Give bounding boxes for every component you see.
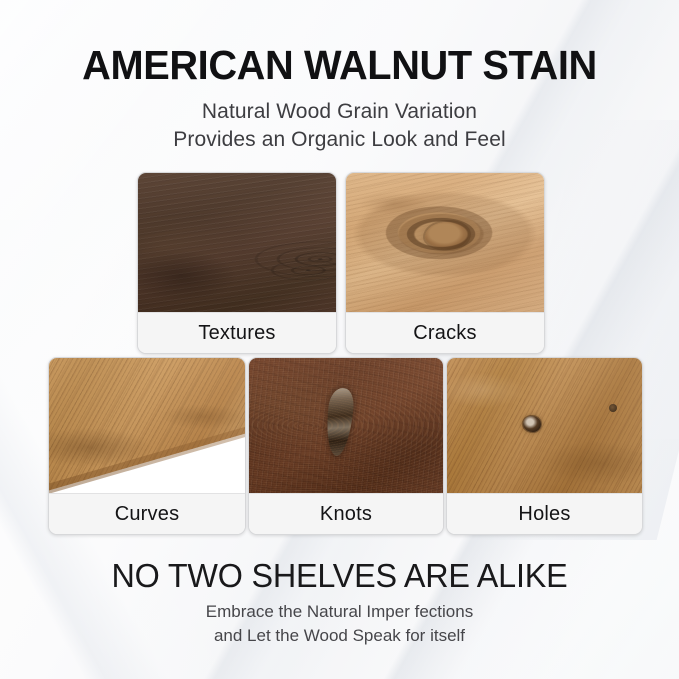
footer-title: NO TWO SHELVES ARE ALIKE [7,557,672,595]
hole-shape [523,416,541,432]
hole-shape-secondary [609,404,617,412]
infographic-canvas: AMERICAN WALNUT STAIN Natural Wood Grain… [0,0,679,679]
wood-texture-light-oak [346,173,544,312]
swatch-cracks [346,173,544,312]
wood-texture-dark-walnut [138,173,336,312]
page-subtitle: Natural Wood Grain Variation Provides an… [0,98,679,154]
page-subtitle-line-1: Natural Wood Grain Variation [0,98,679,126]
swatch-holes [447,358,642,493]
wood-texture-plank-edge [49,358,245,493]
footer-subtitle-line-1: Embrace the Natural Imper fections [0,600,679,624]
feature-card-knots[interactable]: Knots [248,357,444,535]
swatch-curves [49,358,245,493]
swatch-knots [249,358,443,493]
knot-blob-shape [323,387,355,457]
feature-card-label: Textures [138,312,336,353]
feature-card-label: Holes [447,493,642,534]
page-title: AMERICAN WALNUT STAIN [10,44,669,87]
feature-card-label: Curves [49,493,245,534]
feature-card-label: Knots [249,493,443,534]
feature-card-holes[interactable]: Holes [446,357,643,535]
wood-texture-dark-red-brown [249,358,443,493]
feature-card-curves[interactable]: Curves [48,357,246,535]
plank-face [49,358,245,493]
swatch-textures [138,173,336,312]
feature-card-textures[interactable]: Textures [137,172,337,354]
page-subtitle-line-2: Provides an Organic Look and Feel [0,126,679,154]
footer-subtitle-line-2: and Let the Wood Speak for itself [0,624,679,648]
wood-texture-medium-brown [447,358,642,493]
feature-card-cracks[interactable]: Cracks [345,172,545,354]
knot-core-shape [425,222,469,250]
feature-card-label: Cracks [346,312,544,353]
footer-subtitle: Embrace the Natural Imper fections and L… [0,600,679,648]
